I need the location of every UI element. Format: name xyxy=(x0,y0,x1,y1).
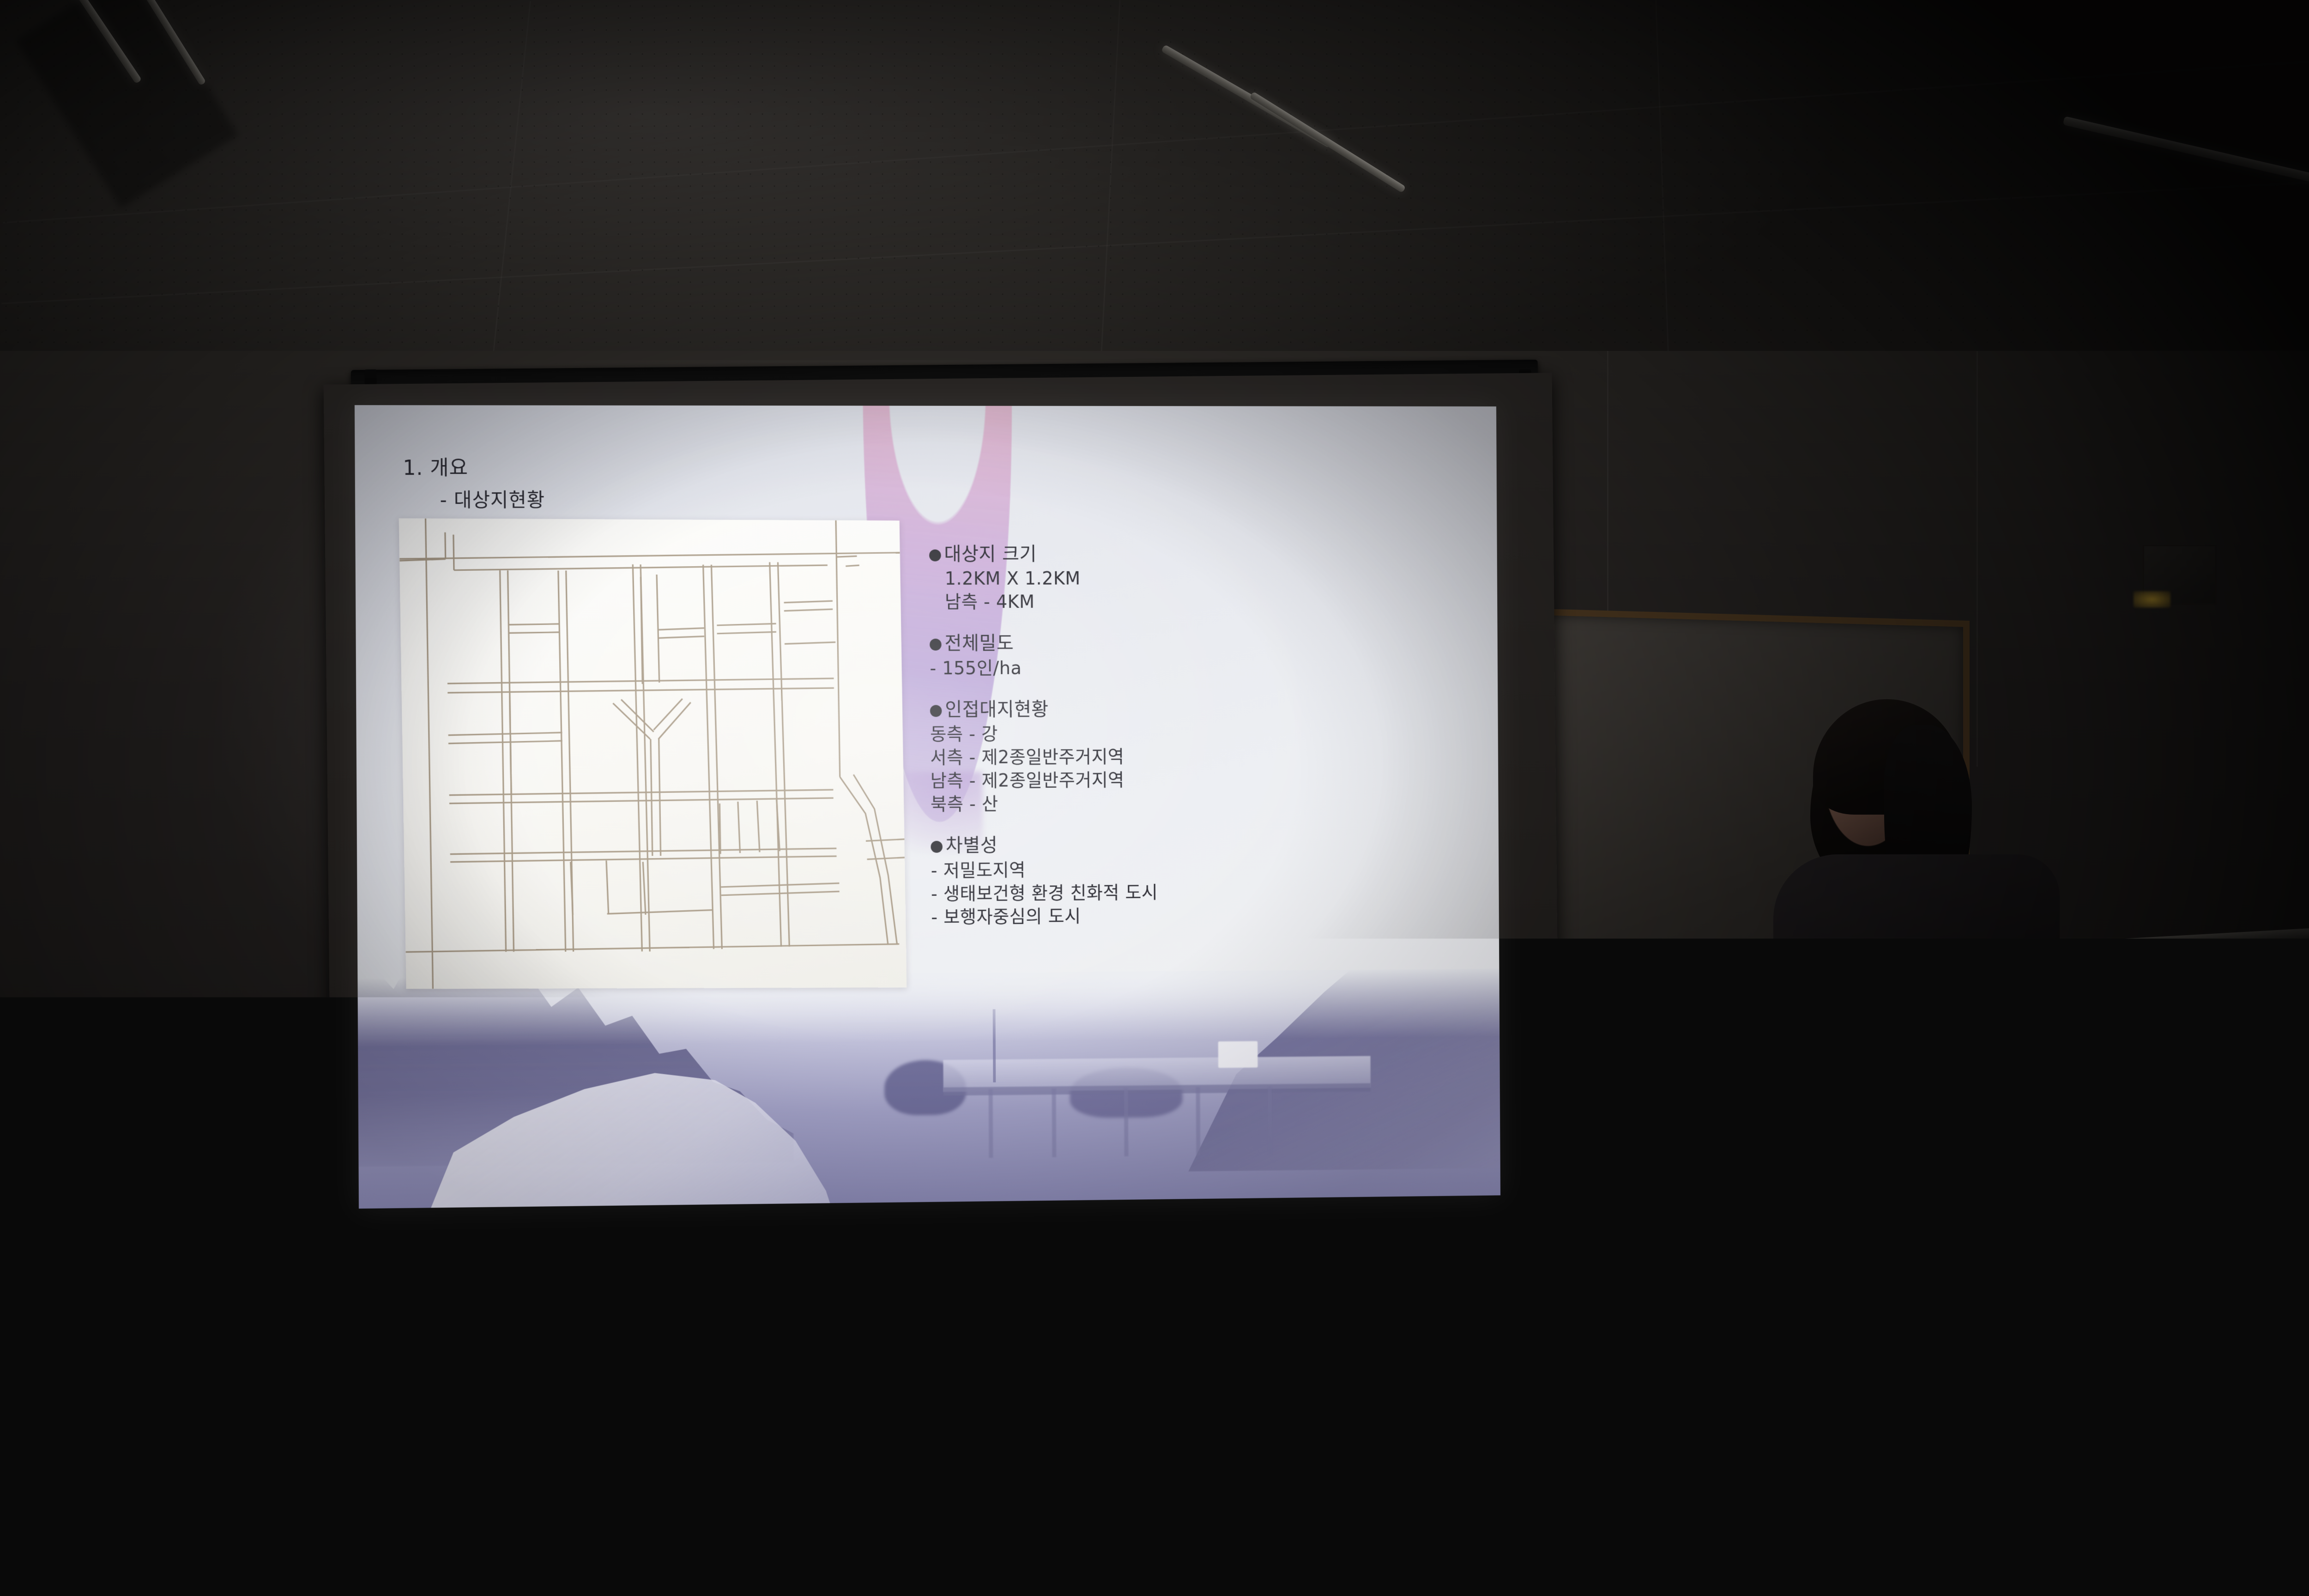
bullet-line: - 저밀도지역 xyxy=(931,857,1461,882)
chair-handle-cutout xyxy=(1380,1481,1445,1511)
bullet-dot-icon xyxy=(929,550,941,562)
presenter: ABA ONE xyxy=(1769,702,2064,1256)
bullet-line: 동측 - 강 xyxy=(930,722,1460,745)
bullet-line: - 보행자중심의 도시 xyxy=(931,903,1461,928)
presentation-slide: 1. 개요 - 대상지현황 xyxy=(355,405,1500,1209)
slide-subtitle: - 대상지현황 xyxy=(440,484,545,513)
indicator-light xyxy=(2134,591,2170,608)
speaker-box xyxy=(199,1081,282,1113)
bullet-line: 남측 - 4KM xyxy=(930,591,1460,613)
bullet-group: 대상지 크기 1.2KM X 1.2KM 남측 - 4KM xyxy=(929,543,1459,613)
bullet-line: 1.2KM X 1.2KM xyxy=(929,568,1459,590)
chair-back[interactable] xyxy=(1273,1420,1553,1596)
bullet-group: 인접대지현황 동측 - 강 서측 - 제2종일반주거지역 남측 - 제2종일반주… xyxy=(930,697,1461,816)
chair-handle-cutout xyxy=(200,1481,266,1511)
slide-bullet-list: 대상지 크기 1.2KM X 1.2KM 남측 - 4KM 전체밀도 - 155… xyxy=(929,543,1461,948)
handout-paper xyxy=(936,1521,1132,1596)
site-plan-map xyxy=(399,518,907,989)
seated-person-head xyxy=(1783,1219,1967,1372)
bullet-dot-icon xyxy=(930,705,942,717)
classroom-scene: 1. 개요 - 대상지현황 xyxy=(0,0,2309,1596)
bullet-heading: 전체밀도 xyxy=(930,631,1460,655)
bullet-line: - 155인/ha xyxy=(930,657,1460,679)
podium-label xyxy=(2277,1071,2309,1092)
projection-screen[interactable]: 1. 개요 - 대상지현황 xyxy=(324,373,1561,1289)
bullet-heading: 인접대지현황 xyxy=(930,697,1460,721)
bullet-line: 서측 - 제2종일반주거지역 xyxy=(930,745,1460,769)
chair-back[interactable] xyxy=(82,1420,385,1596)
handwriting-overlay xyxy=(2000,1469,2309,1589)
snowflake-graphic-icon xyxy=(1995,1261,2050,1316)
bullet-heading: 대상지 크기 xyxy=(929,543,1459,565)
bullet-line: 북측 - 산 xyxy=(931,792,1461,815)
bullet-dot-icon xyxy=(931,841,943,853)
bullet-line: - 생태보건형 환경 친화적 도시 xyxy=(931,880,1461,905)
paper-printed-lines xyxy=(1035,1535,1120,1575)
bullet-heading: 차별성 xyxy=(931,832,1461,857)
bullet-group: 차별성 - 저밀도지역 - 생태보건형 환경 친화적 도시 - 보행자중심의 도… xyxy=(931,832,1461,928)
slide-title: 1. 개요 xyxy=(403,451,468,481)
chair-handle-cutout xyxy=(830,1486,896,1517)
truck xyxy=(1218,1041,1258,1068)
bullet-dot-icon xyxy=(930,639,942,651)
bullet-group: 전체밀도 - 155인/ha xyxy=(930,631,1460,679)
bullet-line: 남측 - 제2종일반주거지역 xyxy=(931,768,1461,792)
landscape-photo xyxy=(357,968,1500,1209)
